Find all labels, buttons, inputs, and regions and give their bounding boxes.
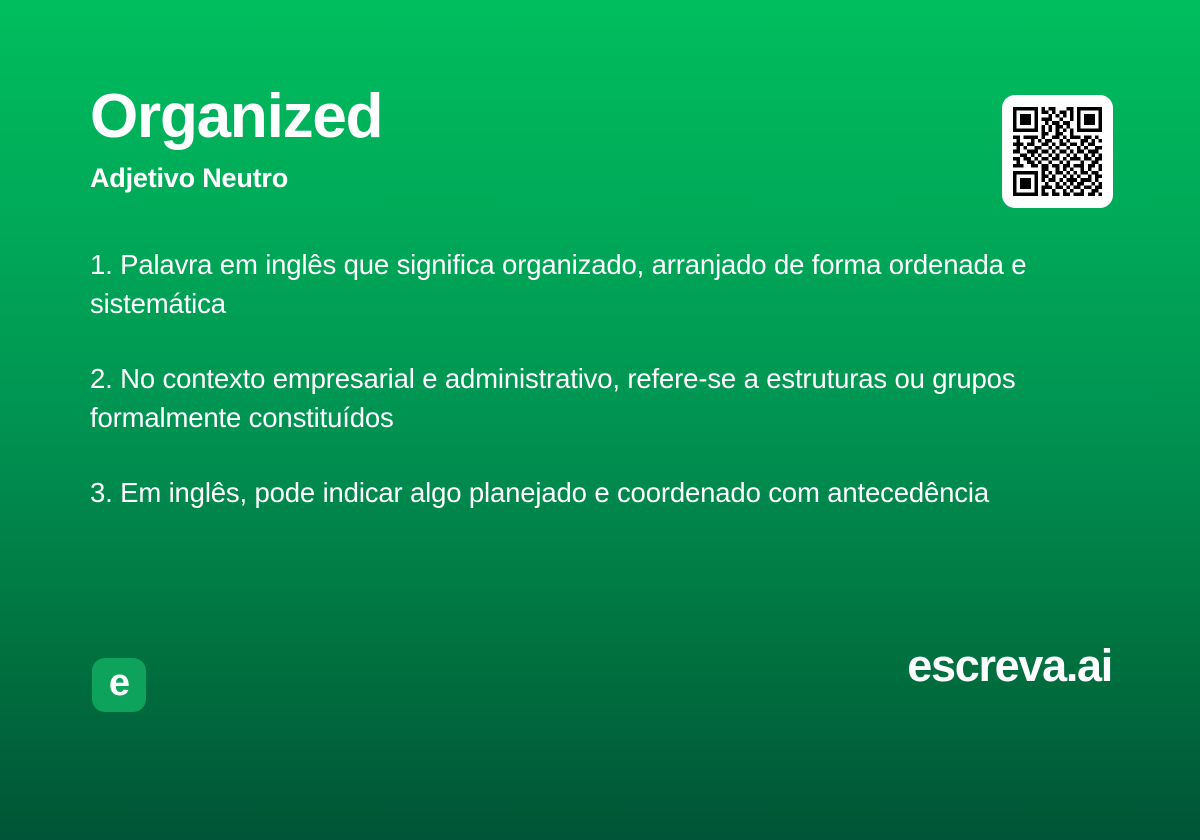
definition-item: 1. Palavra em inglês que significa organ… bbox=[90, 245, 1040, 323]
qr-code-icon bbox=[1013, 107, 1102, 196]
definition-item: 2. No contexto empresarial e administrat… bbox=[90, 359, 1040, 437]
definition-item: 3. Em inglês, pode indicar algo planejad… bbox=[90, 473, 1040, 512]
definition-card: Organized Adjetivo Neutro 1. Palavra em … bbox=[0, 0, 1200, 840]
escreva-logo-icon[interactable]: e bbox=[92, 658, 146, 712]
brand-wordmark: escreva.ai bbox=[907, 640, 1112, 692]
logo-letter: e bbox=[109, 664, 129, 702]
part-of-speech-label: Adjetivo Neutro bbox=[90, 163, 382, 194]
card-footer: e escreva.ai bbox=[0, 710, 1200, 840]
card-header: Organized Adjetivo Neutro bbox=[90, 84, 382, 194]
qr-code-card[interactable] bbox=[1002, 95, 1113, 208]
definitions-list: 1. Palavra em inglês que significa organ… bbox=[90, 245, 1040, 512]
word-title: Organized bbox=[90, 84, 382, 149]
